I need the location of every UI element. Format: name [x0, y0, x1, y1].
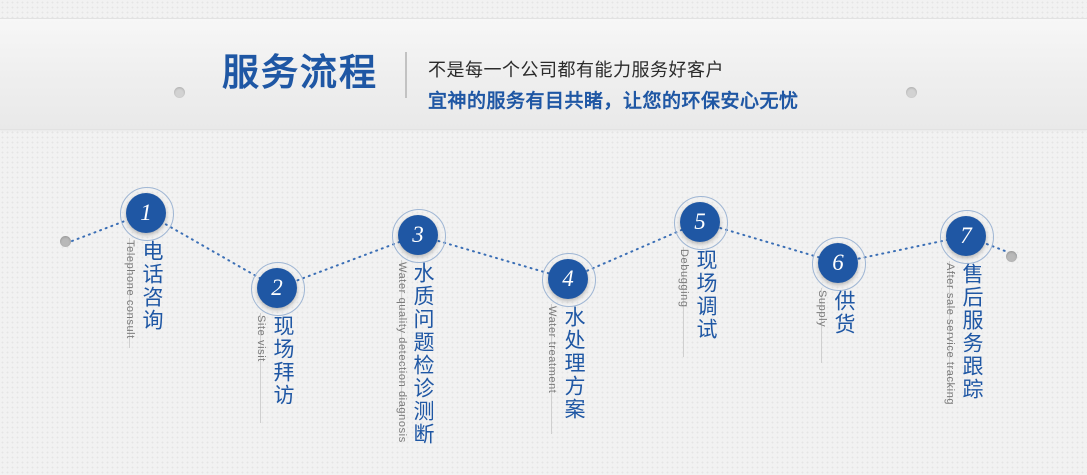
step-4-label-en: Water treatment: [546, 306, 558, 393]
page-title: 服务流程: [222, 50, 378, 96]
step-2-label-cn: 现场拜访: [271, 315, 293, 407]
step-1-label-cn: 电话咨询: [140, 240, 162, 332]
step-6-label-cn: 供货: [832, 290, 854, 336]
subtitle-line-1: 不是每一个公司都有能力服务好客户: [428, 56, 724, 82]
step-5-label-en: Debugging: [678, 249, 690, 308]
step-1-label-en: Telephone consult: [124, 240, 136, 339]
flow-end-cap: [1006, 251, 1017, 262]
step-2-label-en: Site visit: [255, 315, 267, 362]
step-6-label-en: Supply: [816, 290, 828, 327]
step-4-node[interactable]: 4: [548, 259, 588, 299]
step-6-node[interactable]: 6: [818, 243, 858, 283]
step-5-node[interactable]: 5: [680, 202, 720, 242]
flow-connector-lines: [0, 128, 1087, 475]
step-5-label-cn: 现场调试: [694, 249, 716, 341]
step-3-label-en: Water quality detection diagnosis: [396, 262, 408, 443]
step-4-label-cn: 水处理方案: [562, 306, 584, 421]
step-3-label-cn: 水质问题检诊测断: [412, 262, 433, 446]
decorative-dot-right: [906, 87, 917, 98]
subtitle-line-2: 宜神的服务有目共睹，让您的环保安心无忧: [428, 86, 799, 113]
step-2-node[interactable]: 2: [257, 268, 297, 308]
step-7-label-cn: 售后服务跟踪: [960, 263, 982, 401]
step-7-node[interactable]: 7: [946, 216, 986, 256]
step-1-node[interactable]: 1: [126, 193, 166, 233]
step-3-node[interactable]: 3: [398, 215, 438, 255]
step-7-label-en: After sale service tracking: [944, 263, 956, 405]
decorative-dot-left: [174, 87, 185, 98]
flow-start-cap: [60, 236, 71, 247]
service-flow-diagram: 1 Telephone consult 电话咨询 2 Site visit 现场…: [0, 128, 1087, 475]
title-divider: [405, 52, 407, 98]
